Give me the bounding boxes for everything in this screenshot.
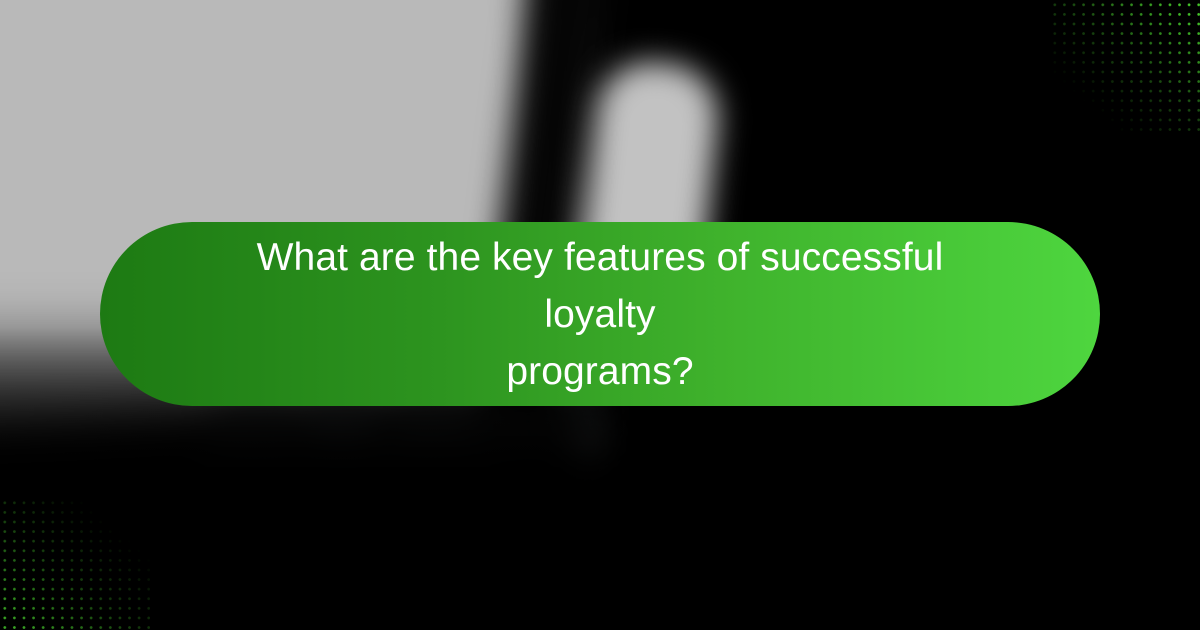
banner-canvas: What are the key features of successful … (0, 0, 1200, 630)
question-banner: What are the key features of successful … (100, 222, 1100, 406)
banner-headline: What are the key features of successful … (210, 229, 990, 400)
